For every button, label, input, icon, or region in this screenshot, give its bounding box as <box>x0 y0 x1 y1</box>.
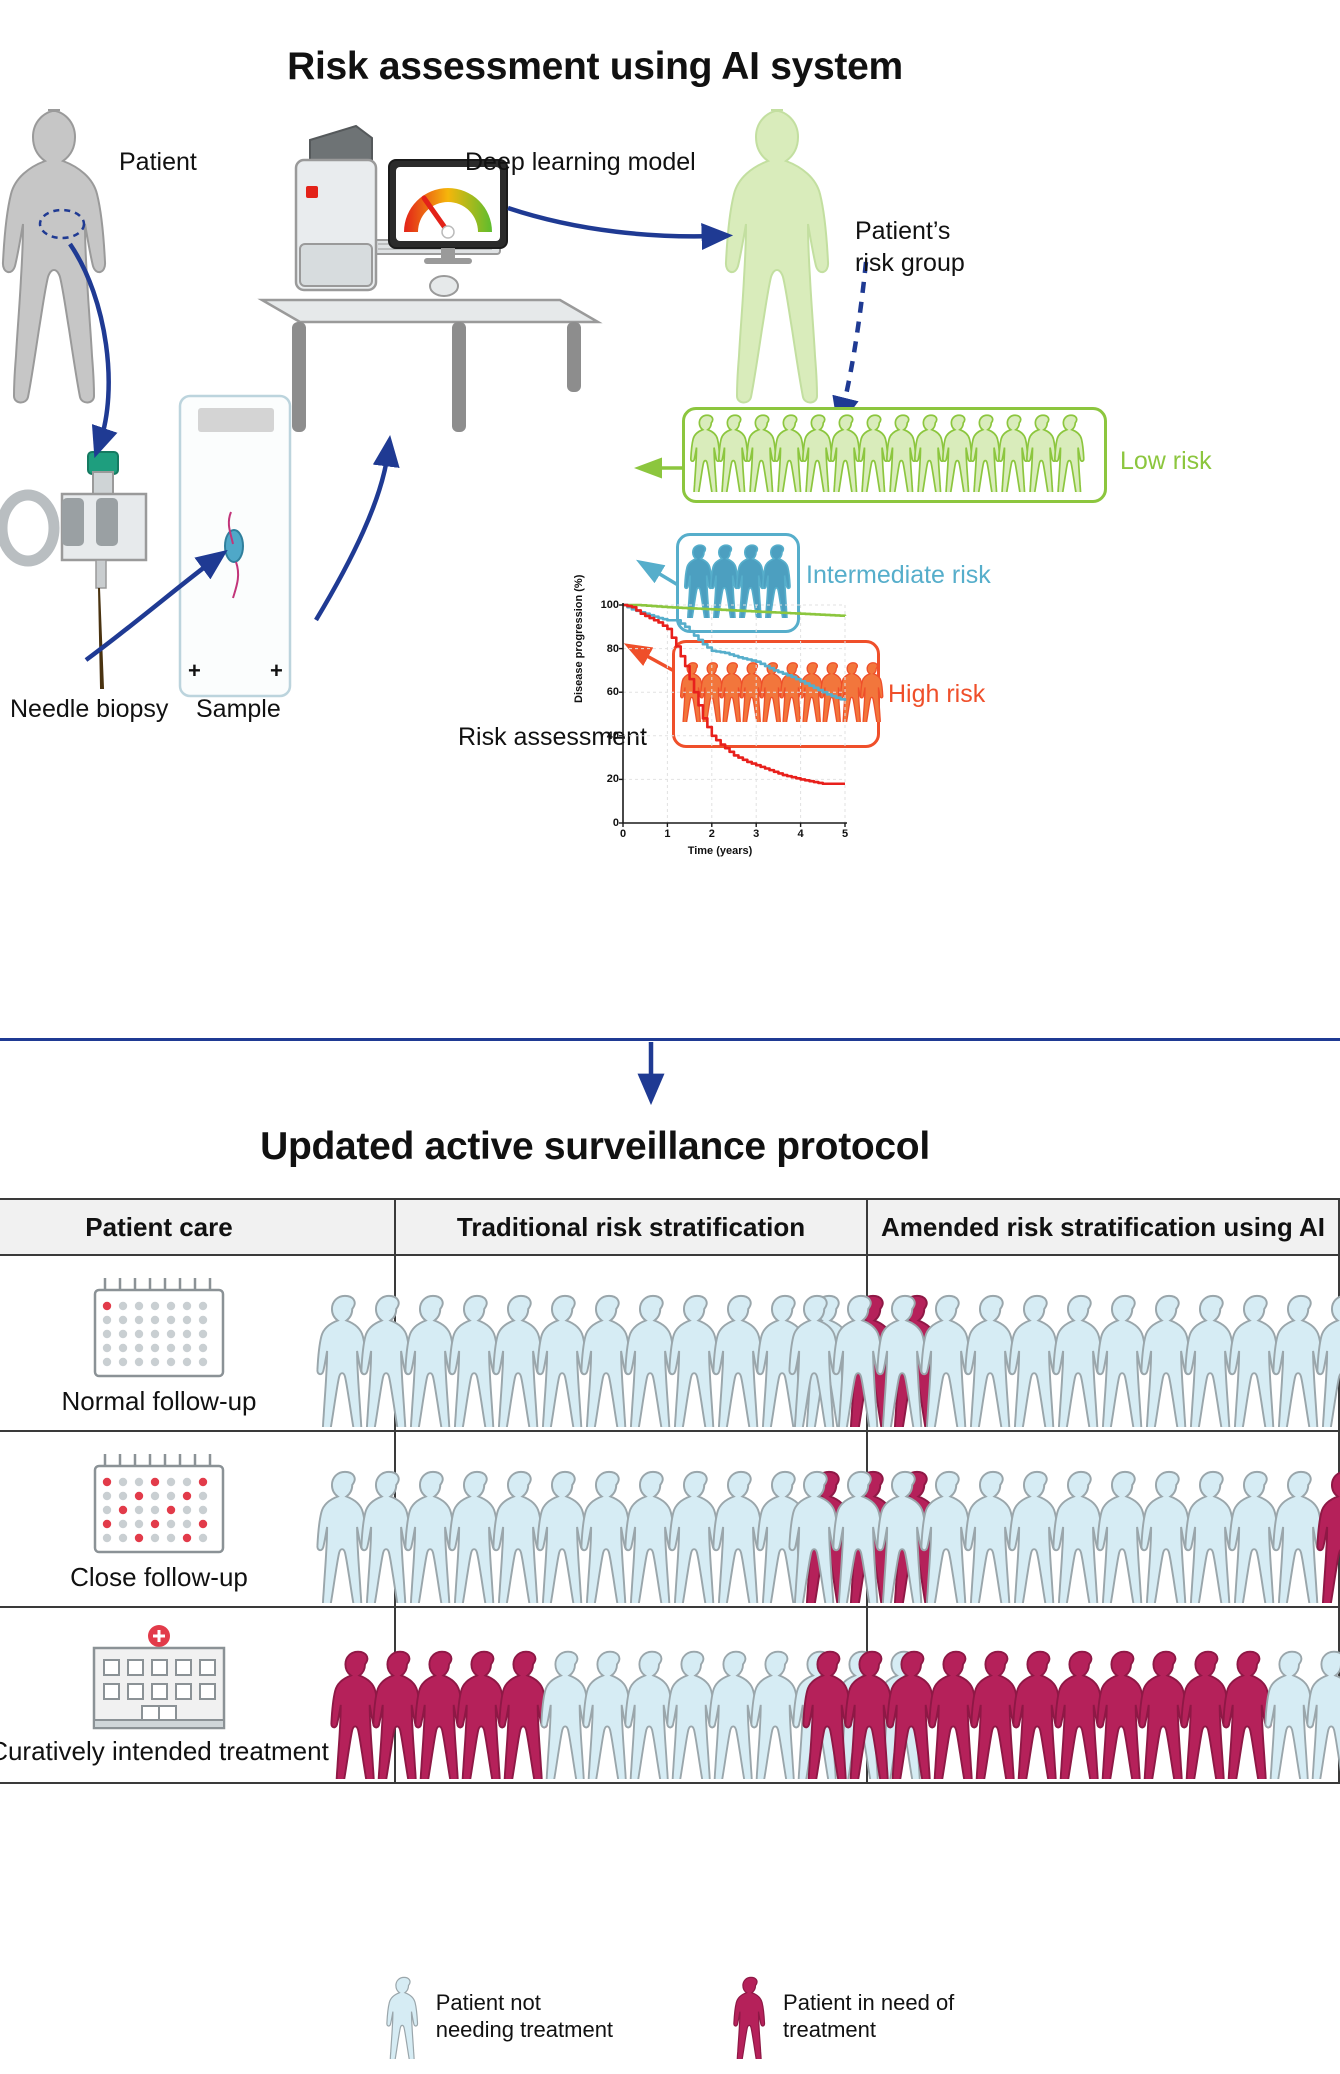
chart-ytick-20: 20 <box>607 773 619 785</box>
model-to-patient-arrow <box>508 208 716 236</box>
chart-x-axis-title: Time (years) <box>575 845 865 857</box>
table-header-amended: Amended risk stratification using AI <box>867 1199 1339 1255</box>
stratification-cell-traditional <box>395 1607 867 1783</box>
patient-needing-treatment <box>1316 1468 1340 1603</box>
care-label: Curatively intended treatment <box>0 1736 329 1767</box>
table-row: Curatively intended treatment <box>0 1607 1339 1783</box>
care-label: Close follow-up <box>70 1562 248 1593</box>
calendar-sparse-icon <box>89 1270 229 1382</box>
page-title-bottom: Updated active surveillance protocol <box>0 1125 1265 1169</box>
chart-ytick-100: 100 <box>601 599 619 611</box>
risk-group-box-low <box>682 407 1107 503</box>
chart-ytick-40: 40 <box>607 730 619 742</box>
section-down-arrow <box>590 1040 710 1120</box>
legend: Patient not needing treatmentPatient in … <box>0 1975 1340 2059</box>
chart-xtick-0: 0 <box>620 828 626 840</box>
table-row: Close follow-up <box>0 1431 1339 1607</box>
chart-xtick-4: 4 <box>798 828 804 840</box>
risk-person-low <box>1054 413 1088 492</box>
chart-plot-area: 020406080100012345 <box>623 605 845 823</box>
sample-label: Sample <box>196 695 281 724</box>
chart-xtick-2: 2 <box>709 828 715 840</box>
needle-biopsy-label: Needle biopsy <box>10 695 168 724</box>
sample-slide <box>180 396 290 696</box>
deep-learning-model-label: Deep learning model <box>465 148 696 177</box>
protocol-table: Patient care Traditional risk stratifica… <box>0 1198 1340 1784</box>
legend-item-not-needing: Patient not needing treatment <box>386 1975 613 2059</box>
legend-text: Patient in need of treatment <box>783 1990 954 2044</box>
slide-mark-left: + <box>188 658 201 684</box>
legend-person-needing <box>733 1975 769 2059</box>
survival-chart: Disease progression (%) Time (years) 020… <box>575 595 865 875</box>
slide-mark-right: + <box>270 658 283 684</box>
needle-biopsy-device <box>2 452 146 688</box>
legend-person-not-needing <box>386 1975 422 2059</box>
legend-item-needing: Patient in need of treatment <box>733 1975 954 2059</box>
risk-label-low: Low risk <box>1120 447 1212 476</box>
chart-series-high-risk <box>623 605 845 784</box>
risk-label-intermediate: Intermediate risk <box>806 561 991 590</box>
care-label: Normal follow-up <box>61 1386 256 1417</box>
chart-y-axis-title: Disease progression (%) <box>573 575 585 703</box>
table-header-traditional: Traditional risk stratification <box>395 1199 867 1255</box>
table-header-patient-care: Patient care <box>0 1199 395 1255</box>
chart-series-low-risk <box>623 605 845 616</box>
stratification-cell-amended <box>867 1431 1339 1607</box>
chart-xtick-3: 3 <box>753 828 759 840</box>
patient-silhouette <box>3 110 105 403</box>
infographic-root: Risk assessment using AI system <box>0 0 1340 2074</box>
calendar-dense-icon <box>89 1446 229 1558</box>
table-header-row: Patient care Traditional risk stratifica… <box>0 1199 1339 1255</box>
risk-group-label: Patient’s risk group <box>855 216 965 279</box>
patient-not-needing-treatment <box>1316 1292 1340 1427</box>
chart-ytick-0: 0 <box>613 817 619 829</box>
stratification-cell-amended <box>867 1255 1339 1431</box>
risk-group-arrow <box>842 262 866 412</box>
patient-not-needing-treatment <box>1306 1648 1340 1779</box>
chart-ytick-80: 80 <box>607 643 619 655</box>
chart-ytick-60: 60 <box>607 686 619 698</box>
stratification-cell-amended <box>867 1607 1339 1783</box>
scanner-machine <box>296 126 376 290</box>
risk-group-patient-silhouette <box>726 110 828 403</box>
chart-xtick-1: 1 <box>664 828 670 840</box>
patient-label: Patient <box>119 148 197 177</box>
intermediate-risk-arrow <box>648 567 678 585</box>
chart-xtick-5: 5 <box>842 828 848 840</box>
legend-text: Patient not needing treatment <box>436 1990 613 2044</box>
hospital-icon <box>84 1624 234 1732</box>
table-row: Normal follow-up <box>0 1255 1339 1431</box>
risk-label-high: High risk <box>888 680 985 709</box>
